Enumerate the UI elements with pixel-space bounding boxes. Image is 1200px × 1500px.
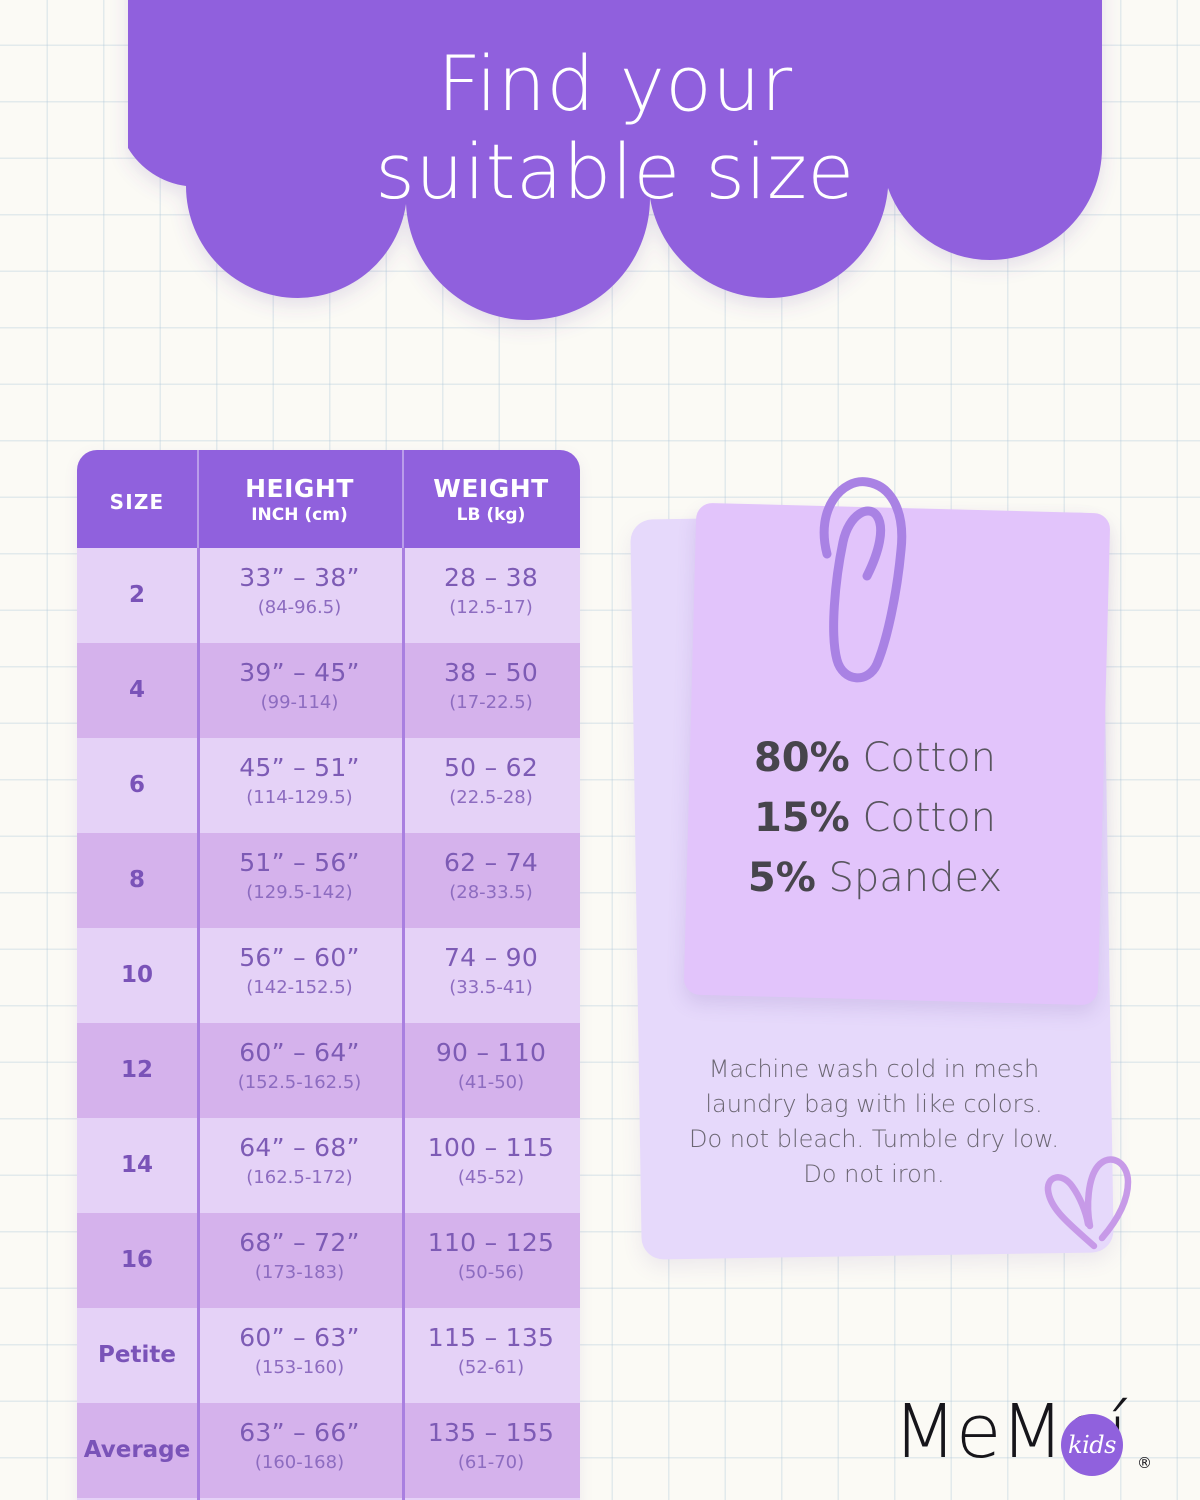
cell-height: 64” – 68”(162.5-172) bbox=[197, 1118, 402, 1213]
fabric-percent: 5% bbox=[748, 855, 816, 901]
cell-weight-kg: (61-70) bbox=[402, 1450, 580, 1475]
cell-weight-lb: 135 – 155 bbox=[402, 1416, 580, 1450]
cell-weight-lb: 50 – 62 bbox=[402, 751, 580, 785]
cell-weight-kg: (45-52) bbox=[402, 1165, 580, 1190]
registered-trademark-mark: ® bbox=[1137, 1454, 1152, 1472]
fabric-material: Spandex bbox=[829, 855, 1003, 901]
cell-size-label: 12 bbox=[77, 1036, 197, 1104]
table-row: Petite60” – 63”(153-160)115 – 135(52-61) bbox=[77, 1308, 580, 1403]
column-header-weight-label: WEIGHT bbox=[402, 474, 580, 504]
cell-height-cm: (162.5-172) bbox=[197, 1165, 402, 1190]
cell-height: 60” – 64”(152.5-162.5) bbox=[197, 1023, 402, 1118]
cell-height: 39” – 45”(99-114) bbox=[197, 643, 402, 738]
cell-height-inch: 60” – 63” bbox=[197, 1321, 402, 1355]
cell-height-cm: (152.5-162.5) bbox=[197, 1070, 402, 1095]
cell-weight-kg: (17-22.5) bbox=[402, 690, 580, 715]
cell-size: 6 bbox=[77, 738, 197, 833]
cell-weight-kg: (22.5-28) bbox=[402, 785, 580, 810]
cell-height-cm: (99-114) bbox=[197, 690, 402, 715]
cell-height: 56” – 60”(142-152.5) bbox=[197, 928, 402, 1023]
table-row: 645” – 51”(114-129.5)50 – 62(22.5-28) bbox=[77, 738, 580, 833]
cell-height-inch: 64” – 68” bbox=[197, 1131, 402, 1165]
cell-size: 16 bbox=[77, 1213, 197, 1308]
table-row: 1464” – 68”(162.5-172)100 – 115(45-52) bbox=[77, 1118, 580, 1213]
cell-size-label: 4 bbox=[77, 656, 197, 724]
cell-weight-lb: 115 – 135 bbox=[402, 1321, 580, 1355]
cell-weight-lb: 74 – 90 bbox=[402, 941, 580, 975]
fabric-percent: 15% bbox=[754, 795, 850, 841]
cell-size: Average bbox=[77, 1403, 197, 1498]
page-title: Find your suitable size bbox=[110, 40, 1120, 216]
cell-weight-lb: 110 – 125 bbox=[402, 1226, 580, 1260]
table-row: 1056” – 60”(142-152.5)74 – 90(33.5-41) bbox=[77, 928, 580, 1023]
cell-size-label: 8 bbox=[77, 846, 197, 914]
cell-height: 51” – 56”(129.5-142) bbox=[197, 833, 402, 928]
cell-weight-kg: (33.5-41) bbox=[402, 975, 580, 1000]
table-row: 1668” – 72”(173-183)110 – 125(50-56) bbox=[77, 1213, 580, 1308]
header-cloud: Find your suitable size bbox=[110, 0, 1120, 398]
cell-size: 2 bbox=[77, 548, 197, 643]
cell-size-label: Petite bbox=[77, 1321, 197, 1389]
cell-weight-kg: (50-56) bbox=[402, 1260, 580, 1285]
brand-logo: MeMoí kids ® bbox=[893, 1392, 1153, 1480]
cell-size-label: Average bbox=[77, 1416, 197, 1484]
table-body: 233” – 38”(84-96.5)28 – 38(12.5-17)439” … bbox=[77, 548, 580, 1500]
cell-height: 45” – 51”(114-129.5) bbox=[197, 738, 402, 833]
cell-size-label: 6 bbox=[77, 751, 197, 819]
cell-size: 10 bbox=[77, 928, 197, 1023]
column-header-weight: WEIGHT LB (kg) bbox=[402, 450, 580, 548]
cell-weight: 100 – 115(45-52) bbox=[402, 1118, 580, 1213]
cell-size-label: 2 bbox=[77, 561, 197, 629]
kids-badge: kids bbox=[1061, 1414, 1123, 1476]
fabric-line: 80% Cotton bbox=[640, 728, 1110, 788]
cell-weight-lb: 28 – 38 bbox=[402, 561, 580, 595]
cell-height-cm: (160-168) bbox=[197, 1450, 402, 1475]
fabric-line: 5% Spandex bbox=[640, 848, 1110, 908]
cell-size: 14 bbox=[77, 1118, 197, 1213]
cell-height-cm: (84-96.5) bbox=[197, 595, 402, 620]
column-header-height-label: HEIGHT bbox=[197, 474, 402, 504]
table-row: 851” – 56”(129.5-142)62 – 74(28-33.5) bbox=[77, 833, 580, 928]
cell-weight: 38 – 50(17-22.5) bbox=[402, 643, 580, 738]
fabric-material: Cotton bbox=[862, 735, 996, 781]
cell-height-inch: 60” – 64” bbox=[197, 1036, 402, 1070]
care-instructions: Machine wash cold in mesh laundry bag wi… bbox=[648, 1052, 1100, 1192]
table-header-row: SIZE HEIGHT INCH (cm) WEIGHT LB (kg) bbox=[77, 450, 580, 548]
cell-height-inch: 39” – 45” bbox=[197, 656, 402, 690]
cell-height: 63” – 66”(160-168) bbox=[197, 1403, 402, 1498]
cell-size: 8 bbox=[77, 833, 197, 928]
fabric-composition: 80% Cotton 15% Cotton 5% Spandex bbox=[640, 728, 1110, 908]
cell-height-cm: (114-129.5) bbox=[197, 785, 402, 810]
cell-height-inch: 56” – 60” bbox=[197, 941, 402, 975]
cell-height-inch: 63” – 66” bbox=[197, 1416, 402, 1450]
column-header-weight-unit: LB (kg) bbox=[402, 504, 580, 526]
column-header-height-unit: INCH (cm) bbox=[197, 504, 402, 526]
column-header-size-label: SIZE bbox=[77, 487, 197, 517]
cell-size-label: 10 bbox=[77, 941, 197, 1009]
cell-weight: 90 – 110(41-50) bbox=[402, 1023, 580, 1118]
cell-height-cm: (129.5-142) bbox=[197, 880, 402, 905]
cell-weight-kg: (52-61) bbox=[402, 1355, 580, 1380]
size-chart-table: SIZE HEIGHT INCH (cm) WEIGHT LB (kg) 233… bbox=[77, 450, 580, 1500]
cell-height-inch: 45” – 51” bbox=[197, 751, 402, 785]
cell-height-cm: (173-183) bbox=[197, 1260, 402, 1285]
fabric-material: Cotton bbox=[862, 795, 996, 841]
cell-weight-kg: (12.5-17) bbox=[402, 595, 580, 620]
cell-weight: 28 – 38(12.5-17) bbox=[402, 548, 580, 643]
cell-height-inch: 33” – 38” bbox=[197, 561, 402, 595]
cell-weight-lb: 90 – 110 bbox=[402, 1036, 580, 1070]
cell-size: 4 bbox=[77, 643, 197, 738]
cell-weight-lb: 100 – 115 bbox=[402, 1131, 580, 1165]
cell-weight-kg: (28-33.5) bbox=[402, 880, 580, 905]
table-row: 233” – 38”(84-96.5)28 – 38(12.5-17) bbox=[77, 548, 580, 643]
cell-size: Petite bbox=[77, 1308, 197, 1403]
table-row: 1260” – 64”(152.5-162.5)90 – 110(41-50) bbox=[77, 1023, 580, 1118]
cell-height-inch: 51” – 56” bbox=[197, 846, 402, 880]
cell-weight: 62 – 74(28-33.5) bbox=[402, 833, 580, 928]
table-row: 439” – 45”(99-114)38 – 50(17-22.5) bbox=[77, 643, 580, 738]
heart-doodle-icon bbox=[1036, 1152, 1146, 1257]
fabric-line: 15% Cotton bbox=[640, 788, 1110, 848]
cell-size-label: 14 bbox=[77, 1131, 197, 1199]
cell-weight-kg: (41-50) bbox=[402, 1070, 580, 1095]
cell-weight-lb: 38 – 50 bbox=[402, 656, 580, 690]
column-header-size: SIZE bbox=[77, 450, 197, 548]
cell-height-cm: (142-152.5) bbox=[197, 975, 402, 1000]
cell-weight: 110 – 125(50-56) bbox=[402, 1213, 580, 1308]
kids-badge-label: kids bbox=[1061, 1414, 1123, 1476]
cell-height: 33” – 38”(84-96.5) bbox=[197, 548, 402, 643]
table-row: Average63” – 66”(160-168)135 – 155(61-70… bbox=[77, 1403, 580, 1498]
cell-weight: 74 – 90(33.5-41) bbox=[402, 928, 580, 1023]
cell-height-cm: (153-160) bbox=[197, 1355, 402, 1380]
column-header-height: HEIGHT INCH (cm) bbox=[197, 450, 402, 548]
cell-height-inch: 68” – 72” bbox=[197, 1226, 402, 1260]
cell-size: 12 bbox=[77, 1023, 197, 1118]
paperclip-icon bbox=[805, 468, 925, 688]
cell-height: 60” – 63”(153-160) bbox=[197, 1308, 402, 1403]
care-instructions-text: Machine wash cold in mesh laundry bag wi… bbox=[648, 1052, 1100, 1192]
fabric-percent: 80% bbox=[754, 735, 850, 781]
cell-size-label: 16 bbox=[77, 1226, 197, 1294]
cell-weight: 50 – 62(22.5-28) bbox=[402, 738, 580, 833]
cell-weight: 135 – 155(61-70) bbox=[402, 1403, 580, 1498]
cell-weight-lb: 62 – 74 bbox=[402, 846, 580, 880]
cell-weight: 115 – 135(52-61) bbox=[402, 1308, 580, 1403]
cell-height: 68” – 72”(173-183) bbox=[197, 1213, 402, 1308]
